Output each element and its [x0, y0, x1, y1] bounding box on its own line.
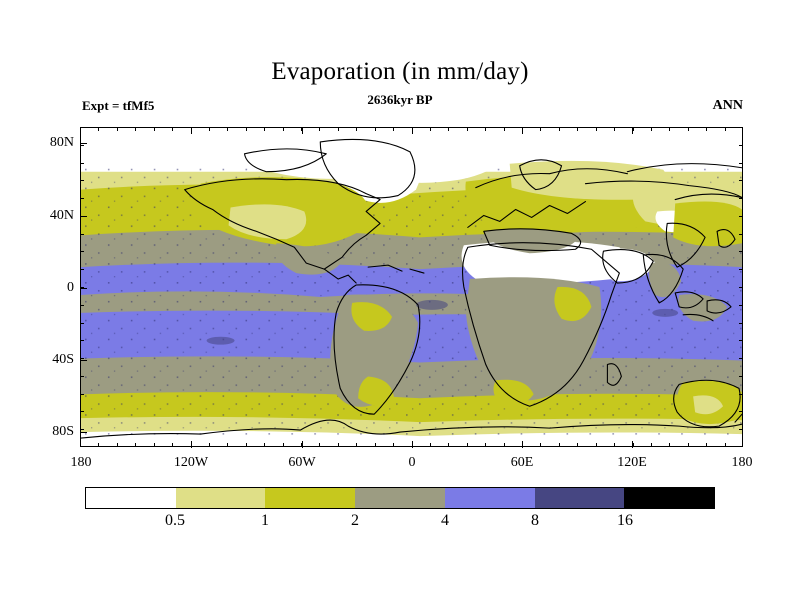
colorbar: [85, 487, 715, 509]
x-minor-tick: [706, 443, 707, 447]
colorbar-label-1: 1: [261, 512, 269, 530]
x-minor-tick: [540, 443, 541, 447]
y-minor-tick: [80, 145, 84, 146]
x-minor-tick: [596, 127, 597, 131]
x-minor-tick: [412, 127, 413, 131]
y-minor-tick: [80, 180, 84, 181]
y-minor-tick: [739, 376, 743, 377]
x-minor-tick: [227, 127, 228, 131]
x-minor-tick: [430, 127, 431, 131]
x-minor-tick: [540, 127, 541, 131]
x-minor-tick: [669, 443, 670, 447]
x-minor-tick: [283, 127, 284, 131]
y-minor-tick: [739, 180, 743, 181]
x-minor-tick: [688, 443, 689, 447]
x-minor-tick: [209, 127, 210, 131]
x-minor-tick: [614, 127, 615, 131]
colorbar-band-6: [624, 488, 714, 508]
x-minor-tick: [633, 443, 634, 447]
y-minor-tick: [80, 163, 84, 164]
x-tick-label-120w: 120W: [174, 455, 208, 471]
x-tick-label-60w: 60W: [288, 455, 315, 471]
x-minor-tick: [338, 443, 339, 447]
x-tick-label-60e: 60E: [511, 455, 534, 471]
y-minor-tick: [80, 376, 84, 377]
x-minor-tick: [135, 127, 136, 131]
x-minor-tick: [485, 127, 486, 131]
y-minor-tick: [739, 287, 743, 288]
y-minor-tick: [739, 411, 743, 412]
x-minor-tick: [448, 127, 449, 131]
x-tick-label-180w: 180: [71, 455, 92, 471]
colorbar-label-2: 2: [351, 512, 359, 530]
y-minor-tick: [80, 340, 84, 341]
y-minor-tick: [739, 305, 743, 306]
x-minor-tick: [559, 127, 560, 131]
x-minor-tick: [448, 443, 449, 447]
colorbar-band-3: [355, 488, 445, 508]
x-minor-tick: [154, 127, 155, 131]
x-minor-tick: [172, 127, 173, 131]
x-minor-tick: [117, 127, 118, 131]
y-tick-label-0: 0: [14, 280, 74, 296]
y-minor-tick: [80, 305, 84, 306]
y-tick-label-80s: 80S: [14, 424, 74, 440]
y-minor-tick: [80, 411, 84, 412]
evaporation-contour-map: [81, 128, 742, 446]
x-minor-tick: [356, 127, 357, 131]
x-minor-tick: [412, 443, 413, 447]
x-minor-tick: [209, 443, 210, 447]
y-minor-tick: [80, 251, 84, 252]
colorbar-label-4: 4: [441, 512, 449, 530]
y-minor-tick: [739, 198, 743, 199]
x-minor-tick: [264, 443, 265, 447]
x-tick-label-120e: 120E: [617, 455, 647, 471]
x-tick-label-0: 0: [409, 455, 416, 471]
x-tick-label-180e: 180: [732, 455, 753, 471]
x-minor-tick: [264, 127, 265, 131]
colorbar-band-5: [535, 488, 625, 508]
x-minor-tick: [98, 443, 99, 447]
x-minor-tick: [522, 443, 523, 447]
x-minor-tick: [227, 443, 228, 447]
x-minor-tick: [393, 127, 394, 131]
y-minor-tick: [80, 394, 84, 395]
y-minor-tick: [739, 163, 743, 164]
y-minor-tick: [739, 323, 743, 324]
y-minor-tick: [80, 323, 84, 324]
y-minor-tick: [80, 234, 84, 235]
y-tick-label-40n: 40N: [14, 208, 74, 224]
y-minor-tick: [739, 394, 743, 395]
x-minor-tick: [467, 127, 468, 131]
x-minor-tick: [596, 443, 597, 447]
y-major-tick: [80, 360, 87, 361]
x-minor-tick: [338, 127, 339, 131]
x-minor-tick: [154, 443, 155, 447]
y-minor-tick: [80, 287, 84, 288]
x-minor-tick: [559, 443, 560, 447]
season-label: ANN: [713, 98, 743, 114]
x-minor-tick: [725, 443, 726, 447]
y-minor-tick: [80, 269, 84, 270]
y-minor-tick: [739, 358, 743, 359]
x-minor-tick: [375, 443, 376, 447]
colorbar-band-0: [86, 488, 176, 508]
x-minor-tick: [430, 443, 431, 447]
colorbar-band-2: [265, 488, 355, 508]
x-minor-tick: [356, 443, 357, 447]
evaporation-map-figure: Evaporation (in mm/day) 2636kyr BP Expt …: [0, 0, 800, 600]
x-minor-tick: [301, 127, 302, 131]
x-minor-tick: [669, 127, 670, 131]
y-minor-tick: [739, 251, 743, 252]
experiment-label: Expt = tfMf5: [82, 98, 154, 114]
y-minor-tick: [80, 198, 84, 199]
colorbar-band-4: [445, 488, 535, 508]
x-minor-tick: [522, 127, 523, 131]
x-minor-tick: [283, 443, 284, 447]
x-major-tick: [302, 441, 303, 448]
x-minor-tick: [725, 127, 726, 131]
y-major-tick: [80, 432, 87, 433]
y-minor-tick: [739, 234, 743, 235]
x-minor-tick: [651, 127, 652, 131]
x-minor-tick: [577, 443, 578, 447]
map-plot-area: [80, 127, 743, 447]
y-minor-tick: [739, 216, 743, 217]
x-minor-tick: [504, 127, 505, 131]
y-major-tick: [80, 143, 87, 144]
x-minor-tick: [633, 127, 634, 131]
x-minor-tick: [191, 443, 192, 447]
y-tick-label-80n: 80N: [14, 135, 74, 151]
y-minor-tick: [80, 358, 84, 359]
x-minor-tick: [301, 443, 302, 447]
x-minor-tick: [246, 443, 247, 447]
colorbar-label-0.5: 0.5: [165, 512, 185, 530]
x-minor-tick: [706, 127, 707, 131]
x-minor-tick: [614, 443, 615, 447]
x-minor-tick: [319, 127, 320, 131]
x-minor-tick: [375, 127, 376, 131]
y-minor-tick: [80, 216, 84, 217]
y-minor-tick: [739, 429, 743, 430]
y-minor-tick: [80, 429, 84, 430]
x-minor-tick: [172, 443, 173, 447]
colorbar-label-8: 8: [531, 512, 539, 530]
x-minor-tick: [246, 127, 247, 131]
x-minor-tick: [319, 443, 320, 447]
y-minor-tick: [739, 340, 743, 341]
x-minor-tick: [191, 127, 192, 131]
y-minor-tick: [739, 269, 743, 270]
x-minor-tick: [577, 127, 578, 131]
y-major-tick: [80, 288, 87, 289]
x-minor-tick: [651, 443, 652, 447]
x-minor-tick: [117, 443, 118, 447]
x-minor-tick: [485, 443, 486, 447]
colorbar-label-16: 16: [617, 512, 633, 530]
y-tick-label-40s: 40S: [14, 352, 74, 368]
x-minor-tick: [98, 127, 99, 131]
x-minor-tick: [467, 443, 468, 447]
x-minor-tick: [504, 443, 505, 447]
x-minor-tick: [135, 443, 136, 447]
colorbar-band-1: [176, 488, 266, 508]
page-title: Evaporation (in mm/day): [0, 58, 800, 86]
x-minor-tick: [688, 127, 689, 131]
x-major-tick: [302, 128, 303, 134]
x-minor-tick: [393, 443, 394, 447]
y-minor-tick: [739, 145, 743, 146]
